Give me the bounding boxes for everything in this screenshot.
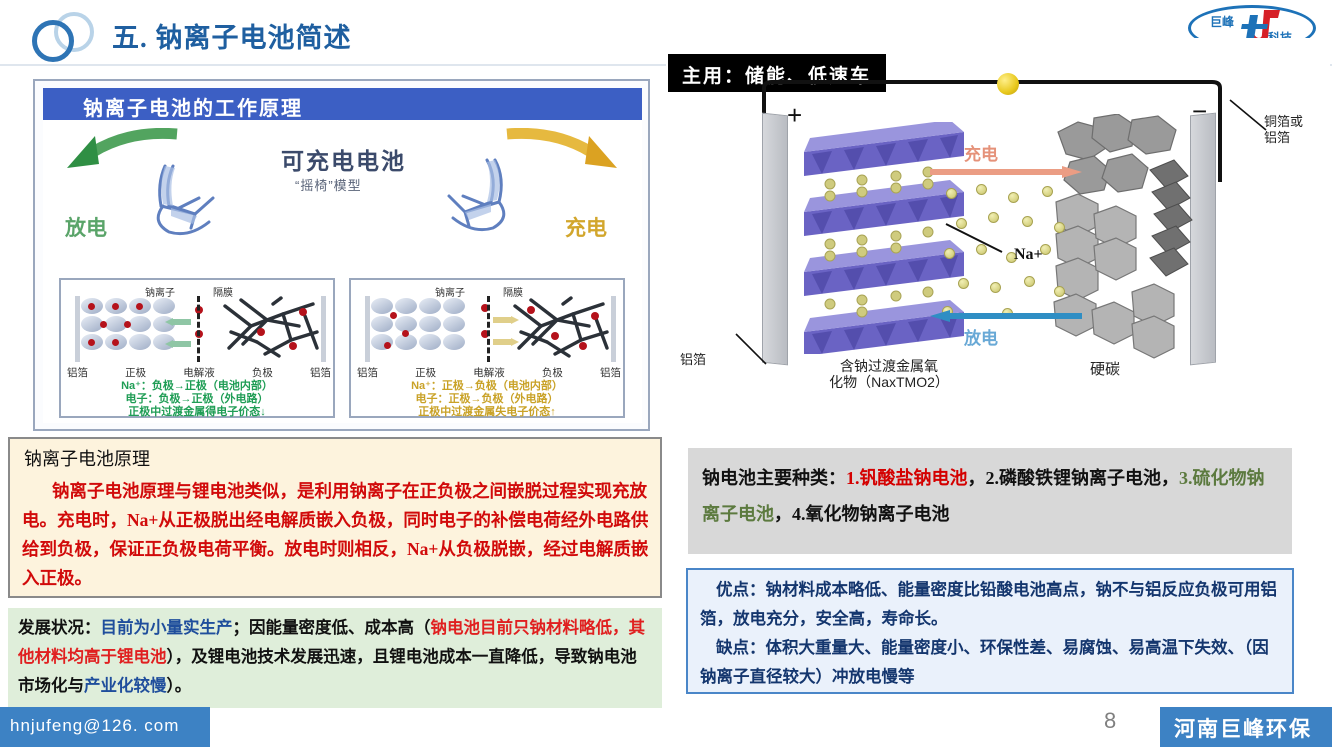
equation-line: 电子：正极→负极（外电路） xyxy=(351,393,623,406)
pros-cons-box: 优点：钠材料成本略低、能量密度比铅酸电池高点，钠不与铝反应负极可用铝箔，放电充分… xyxy=(686,568,1294,694)
panel-right-equations: Na⁺：正极→负极（电池内部） 电子：正极→负极（外电路） 正极中过渡金属失电子… xyxy=(351,380,623,419)
equation-line: 正极中过渡金属失电子价态↑ xyxy=(351,406,623,419)
panel-left-cap-ion: 钠离子 xyxy=(145,284,175,299)
rocking-chair-right-icon xyxy=(435,154,525,234)
na-ion xyxy=(257,328,265,336)
circle-front xyxy=(32,20,74,62)
principle-body: 钠离子电池原理与锂电池类似，是利用钠离子在正负极之间嵌脱过程实现充放电。充电时，… xyxy=(22,477,650,593)
page-title: 五. 钠离子电池简述 xyxy=(112,16,352,55)
panel-left-equations: Na⁺：负极→正极（电池内部） 电子：负极→正极（外电路） 正极中过渡金属得电子… xyxy=(61,380,333,419)
pros-text: 优点：钠材料成本略低、能量密度比铅酸电池高点，钠不与铝反应负极可用铝箔，放电充分… xyxy=(700,576,1280,634)
part-label: 电解液 xyxy=(473,365,505,380)
discharge-direction-arrow xyxy=(930,310,1082,322)
na-ion xyxy=(591,312,599,320)
na-ion xyxy=(527,306,535,314)
na-ion xyxy=(299,308,307,316)
rocking-chair-left-icon xyxy=(143,158,233,238)
part-label: 负极 xyxy=(542,365,563,380)
types-sep-2: ， xyxy=(774,504,792,524)
panel-right-cap-ion: 钠离子 xyxy=(435,284,465,299)
equation-line: Na⁺：正极→负极（电池内部） xyxy=(351,380,623,393)
foil-left xyxy=(75,296,80,362)
cathode-lattice xyxy=(371,298,481,360)
na-ion-tag: Na+ xyxy=(1014,246,1043,264)
types-lead: 钠电池主要种类： xyxy=(702,468,846,488)
page-number: 8 xyxy=(1104,708,1116,734)
battery-schematic: + − xyxy=(692,62,1292,382)
copper-foil-label: 铜箔或 铝箔 xyxy=(1264,114,1332,146)
cons-text: 缺点：体积大重量大、能量密度小、环保性差、易腐蚀、易高温下失效、（因钠离子直径较… xyxy=(700,634,1280,692)
types-item-1: 1.钒酸盐钠电池 xyxy=(846,468,968,488)
part-label: 负极 xyxy=(252,365,273,380)
charge-label: 充电 xyxy=(565,212,607,242)
panel-discharge: 钠离子 隔膜 xyxy=(59,278,335,418)
cathode-material-label: 含钠过渡金属氧 化物（NaxTMO2） xyxy=(814,358,964,390)
ion-flow-arrow-left xyxy=(165,340,191,348)
development-seg6: ）。 xyxy=(167,677,192,695)
left-figure-titlebar: 钠离子电池的工作原理 xyxy=(43,88,642,120)
types-item-2: 2.磷酸铁锂钠离子电池， xyxy=(986,468,1180,488)
equation-line: 正极中过渡金属得电子价态↓ xyxy=(61,406,333,419)
part-label: 铝箔 xyxy=(310,365,331,380)
part-label: 铝箔 xyxy=(67,365,88,380)
lamp-icon xyxy=(997,73,1019,95)
cons-line: 缺点：体积大重量大、能量密度小、环保性差、易腐蚀、易高温下失效、（因钠离子直径较… xyxy=(700,639,1269,686)
discharge-label: 放电 xyxy=(65,212,107,242)
na-ion xyxy=(579,342,587,350)
anode-material-label: 硬碳 xyxy=(1090,362,1120,378)
equation-line: Na⁺：负极→正极（电池内部） xyxy=(61,380,333,393)
rocking-chair-model-label: “摇椅”模型 xyxy=(295,175,362,194)
left-figure-title: 钠离子电池的工作原理 xyxy=(83,92,303,121)
na-ion xyxy=(551,332,559,340)
slide-root: 五. 钠离子电池简述 巨峰 科技 钠离子电池的工作原理 可充电电池 “摇椅”模型 xyxy=(0,0,1332,747)
two-circles-icon xyxy=(26,10,104,60)
left-figure-body: 可充电电池 “摇椅”模型 xyxy=(43,120,642,423)
development-box: 发展状况：目前为小量实生产；因能量密度低、成本高（钠电池目前只钠材料略低，其他材… xyxy=(8,608,662,708)
development-text: 发展状况：目前为小量实生产；因能量密度低、成本高（钠电池目前只钠材料略低，其他材… xyxy=(18,614,652,701)
email-footer: hnjufeng@126. com xyxy=(0,707,210,747)
battery-types-text: 钠电池主要种类：1.钒酸盐钠电池，2.磷酸铁锂钠离子电池，3.硫化物钠离子电池，… xyxy=(702,460,1278,532)
types-item-4: 4.氧化物钠离子电池 xyxy=(792,504,950,524)
development-seg2: ；因能量密度低、成本高（ xyxy=(233,619,431,637)
types-sep-1: ， xyxy=(968,468,986,488)
principle-box: 钠离子电池原理 钠离子电池原理与锂电池类似，是利用钠离子在正负极之间嵌脱过程实现… xyxy=(8,437,662,598)
separator-dashed-line xyxy=(487,296,490,362)
panel-charge: 钠离子 隔膜 xyxy=(349,278,625,418)
charge-direction-arrow xyxy=(930,166,1082,178)
development-seg5: 产业化较慢 xyxy=(84,677,167,695)
development-label: 发展状况： xyxy=(18,619,101,637)
email-text: hnjufeng@126. com xyxy=(10,716,179,736)
rechargeable-battery-label: 可充电电池 xyxy=(281,142,406,176)
part-label: 铝箔 xyxy=(357,365,378,380)
discharge-arrow-label: 放电 xyxy=(964,324,998,349)
separator-dashed-line xyxy=(197,296,200,362)
pros-line: 优点：钠材料成本略低、能量密度比铅酸电池高点，钠不与铝反应负极可用铝箔，放电充分… xyxy=(700,581,1277,628)
na-ion xyxy=(289,342,297,350)
brand-text: 河南巨峰环保 xyxy=(1174,713,1312,743)
anode-mesh xyxy=(511,296,611,362)
anode-mesh xyxy=(221,296,321,362)
part-label: 正极 xyxy=(415,365,436,380)
equation-line: 电子：负极→正极（外电路） xyxy=(61,393,333,406)
panel-left-parts: 铝箔 正极 电解液 负极 铝箔 xyxy=(67,365,331,380)
cathode-lattice xyxy=(81,298,191,360)
principle-heading: 钠离子电池原理 xyxy=(24,445,150,471)
foil-right xyxy=(611,296,616,362)
brand-footer: 河南巨峰环保 xyxy=(1160,707,1332,747)
part-label: 正极 xyxy=(125,365,146,380)
ion-flow-arrow-left xyxy=(165,318,191,326)
part-label: 电解液 xyxy=(183,365,215,380)
left-figure: 钠离子电池的工作原理 可充电电池 “摇椅”模型 xyxy=(33,79,650,431)
charge-arrow-label: 充电 xyxy=(964,140,998,165)
part-label: 铝箔 xyxy=(600,365,621,380)
aluminum-foil-label: 铝箔 xyxy=(680,352,706,368)
foil-right xyxy=(321,296,326,362)
right-figure: 主用：储能、低速车等 + − xyxy=(666,38,1330,433)
logo-text-left: 巨峰 xyxy=(1210,13,1234,30)
foil-left xyxy=(365,296,370,362)
development-seg1: 目前为小量实生产 xyxy=(101,619,233,637)
panel-right-parts: 铝箔 正极 电解液 负极 铝箔 xyxy=(357,365,621,380)
battery-types-box: 钠电池主要种类：1.钒酸盐钠电池，2.磷酸铁锂钠离子电池，3.硫化物钠离子电池，… xyxy=(688,448,1292,554)
aluminum-foil-plate xyxy=(762,113,788,366)
